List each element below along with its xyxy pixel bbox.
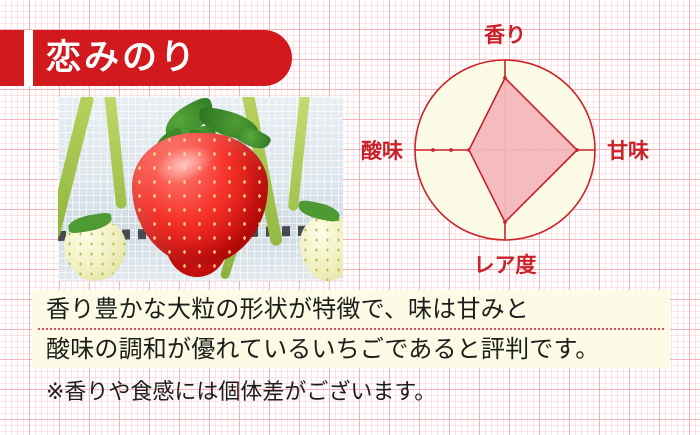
footnote: ※香りや食感には個体差がございます。 <box>46 378 436 408</box>
photo-canvas <box>58 97 343 281</box>
title-banner: 恋みのり <box>0 30 292 86</box>
radar-label-bottom: レア度 <box>474 253 537 277</box>
radar-label-left: 酸味 <box>361 139 403 163</box>
page-title: 恋みのり <box>46 41 198 76</box>
taste-radar-chart: 香り 甘味 レア度 酸味 <box>355 18 665 280</box>
description-line-2: 酸味の調和が優れているいちごであると評判です。 <box>32 330 670 368</box>
radar-svg: 香り 甘味 レア度 酸味 <box>355 18 665 280</box>
strawberry-photo <box>58 97 343 281</box>
page-root: 恋みのり <box>0 0 700 435</box>
banner-accent-bar <box>24 30 33 86</box>
description-line-1: 香り豊かな大粒の形状が特徴で、味は甘みと <box>32 290 670 328</box>
radar-label-right: 甘味 <box>607 139 649 163</box>
radar-label-top: 香り <box>484 23 526 47</box>
description-block: 香り豊かな大粒の形状が特徴で、味は甘みと 酸味の調和が優れているいちごであると評… <box>32 290 670 368</box>
